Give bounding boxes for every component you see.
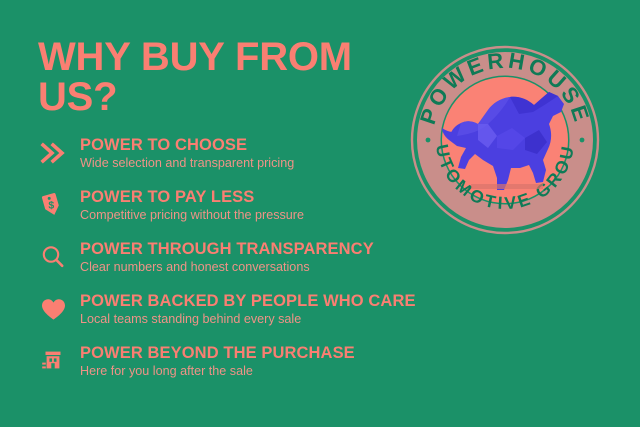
heart-icon bbox=[36, 294, 70, 324]
page-title: WHY BUY FROM US? bbox=[38, 38, 418, 117]
benefit-text: POWER THROUGH TRANSPARENCY Clear numbers… bbox=[70, 240, 506, 276]
storefront-building-icon bbox=[36, 346, 70, 376]
benefit-title: POWER THROUGH TRANSPARENCY bbox=[80, 240, 506, 258]
price-tag-dollar-icon: $ bbox=[36, 190, 70, 220]
double-chevron-right-icon bbox=[36, 138, 70, 168]
benefit-title: POWER BEYOND THE PURCHASE bbox=[80, 344, 506, 362]
why-buy-from-us-poster: WHY BUY FROM US? POWER TO CHOOSE Wide se… bbox=[0, 0, 640, 427]
benefit-text: POWER BACKED BY PEOPLE WHO CARE Local te… bbox=[70, 292, 506, 328]
benefit-subtitle: Clear numbers and honest conversations bbox=[80, 260, 506, 275]
benefit-title: POWER BACKED BY PEOPLE WHO CARE bbox=[80, 292, 506, 310]
list-item: POWER BEYOND THE PURCHASE Here for you l… bbox=[36, 344, 506, 388]
benefit-subtitle: Here for you long after the sale bbox=[80, 364, 506, 379]
benefit-text: POWER BEYOND THE PURCHASE Here for you l… bbox=[70, 344, 506, 380]
powerhouse-automotive-group-logo: POWERHOUSE AUTOMOTIVE GROUP bbox=[409, 44, 601, 236]
list-item: POWER BACKED BY PEOPLE WHO CARE Local te… bbox=[36, 292, 506, 336]
magnifying-glass-icon bbox=[36, 242, 70, 272]
svg-text:$: $ bbox=[48, 199, 54, 211]
list-item: POWER THROUGH TRANSPARENCY Clear numbers… bbox=[36, 240, 506, 284]
logo-right-dot bbox=[580, 138, 585, 143]
logo-left-dot bbox=[426, 138, 431, 143]
benefit-subtitle: Local teams standing behind every sale bbox=[80, 312, 506, 327]
